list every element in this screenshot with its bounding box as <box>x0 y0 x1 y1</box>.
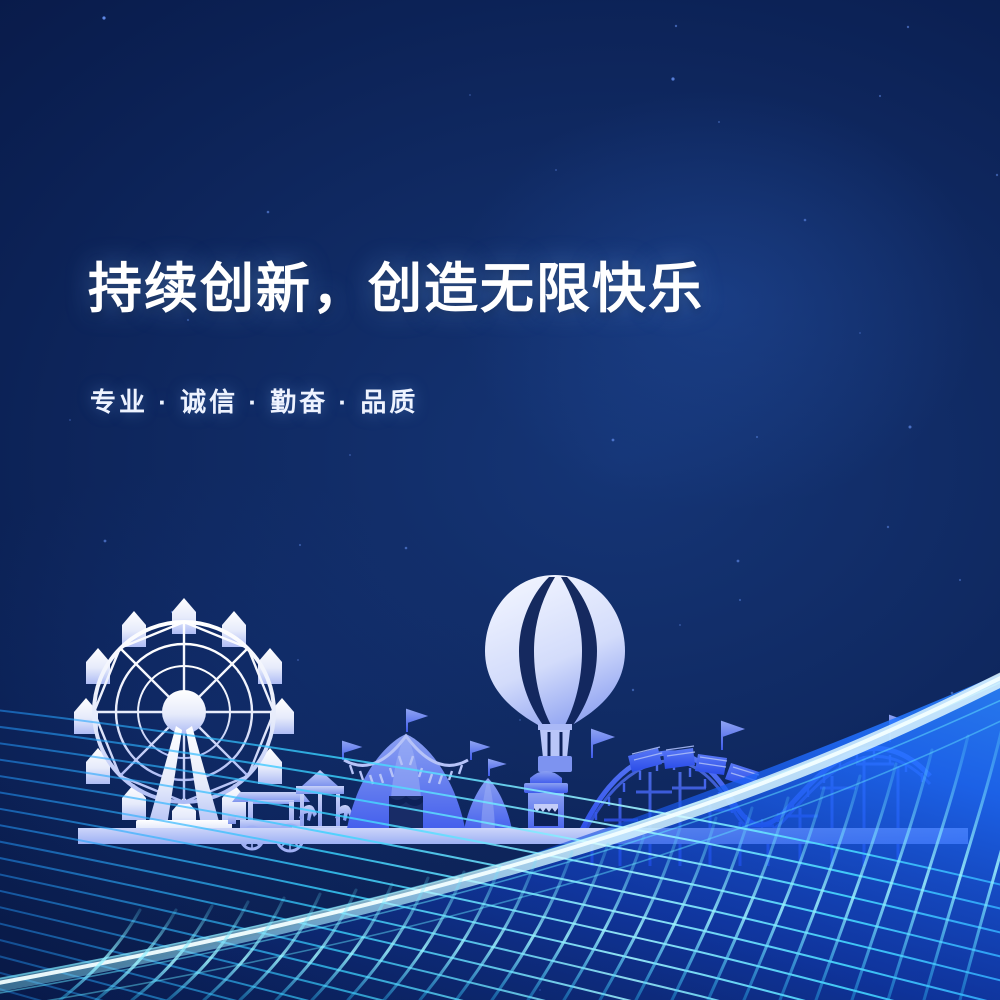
page-subtitle: 专业 · 诚信 · 勤奋 · 品质 <box>90 382 848 419</box>
banner-canvas: 持续创新，创造无限快乐 专业 · 诚信 · 勤奋 · 品质 <box>0 0 1000 1000</box>
glowing-wave-graphic <box>0 670 1000 1000</box>
page-title: 持续创新，创造无限快乐 <box>88 258 848 320</box>
hero-text-block: 持续创新，创造无限快乐 专业 · 诚信 · 勤奋 · 品质 <box>88 258 848 419</box>
